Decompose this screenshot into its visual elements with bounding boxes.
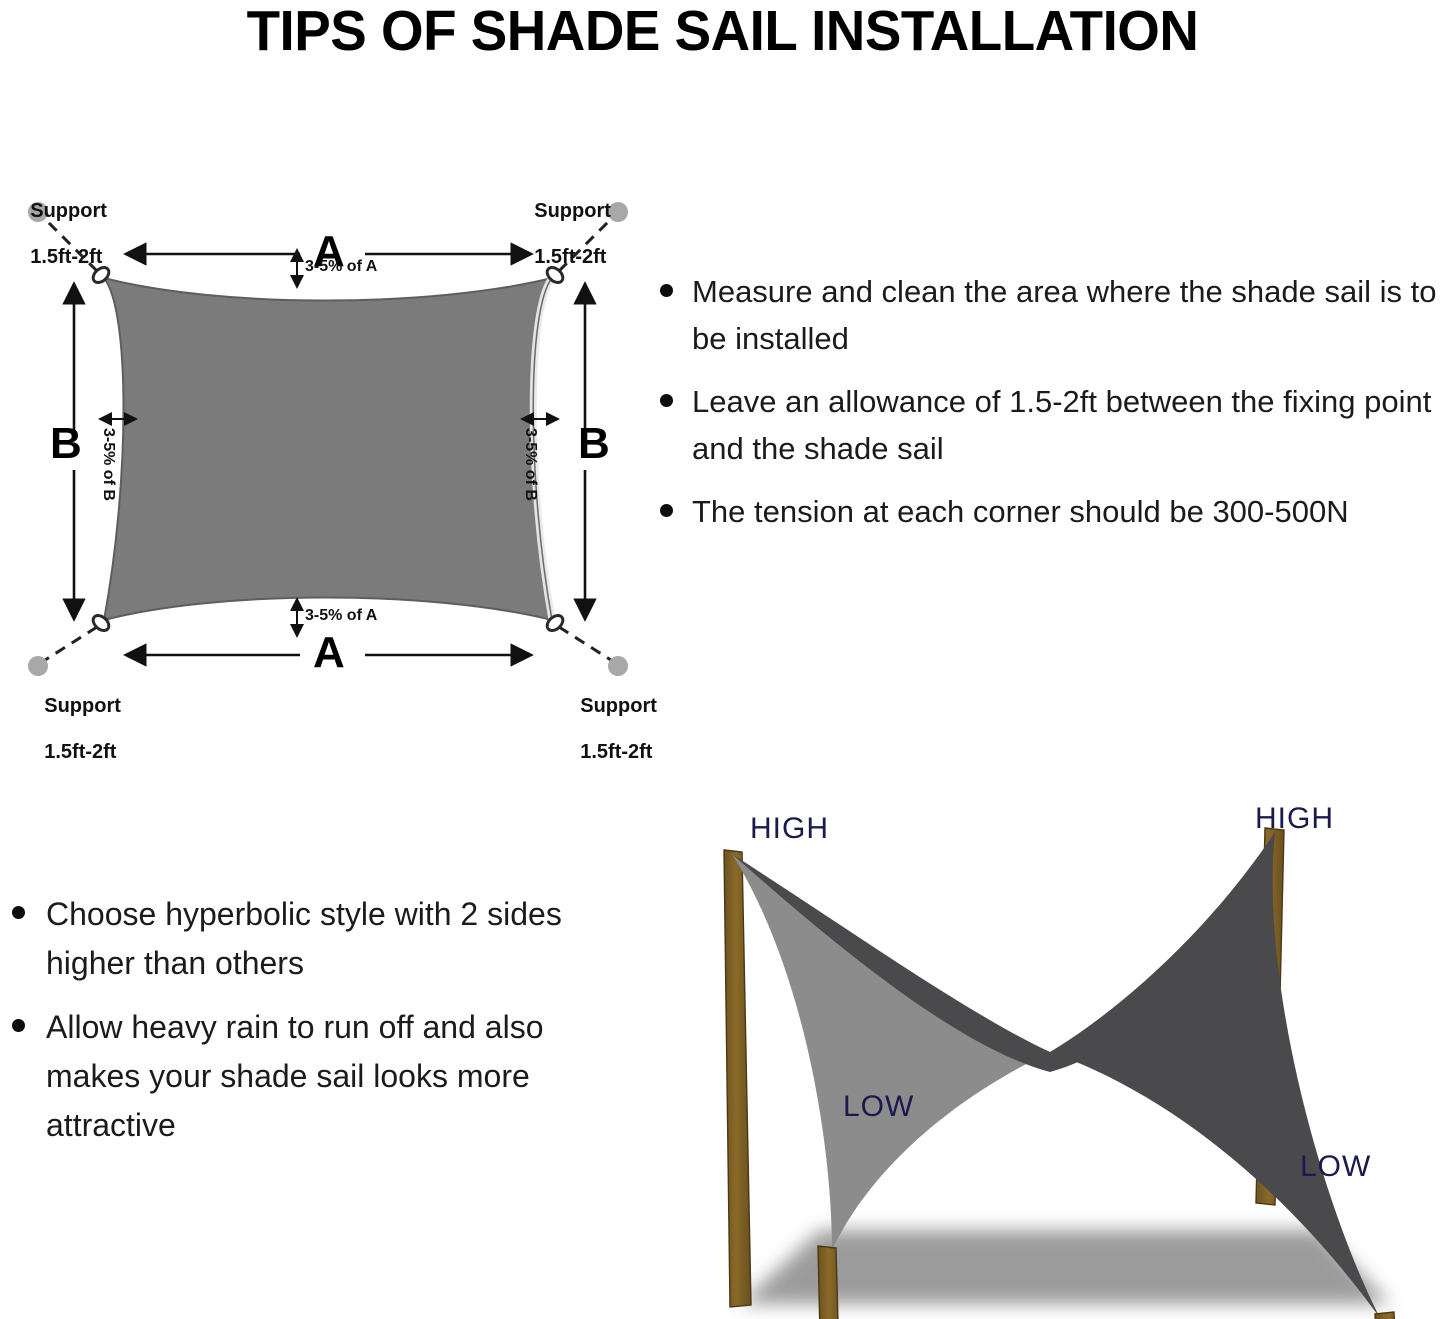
label-low-right: LOW (1300, 1150, 1371, 1184)
label-low-left: LOW (843, 1090, 914, 1124)
support-label-top-left: Support 1.5ft-2ft (8, 177, 107, 292)
label-high-left: HIGH (750, 812, 829, 846)
curve-label-left: 3-5% of B (99, 428, 117, 501)
installation-tips-list: Measure and clean the area where the sha… (648, 268, 1445, 552)
dimension-label-width-bottom: A (313, 631, 345, 675)
support-label-line1: Support (534, 200, 611, 222)
bullet-dot-icon (12, 1019, 25, 1032)
benefit-text: Allow heavy rain to run off and also mak… (46, 1009, 543, 1142)
support-label-line2: 1.5ft-2ft (30, 246, 102, 268)
page-title: TIPS OF SHADE SAIL INSTALLATION (29, 0, 1416, 62)
support-label-bottom-right: Support 1.5ft-2ft (558, 672, 657, 787)
bullet-dot-icon (12, 906, 25, 919)
curve-label-bottom: 3-5% of A (305, 607, 377, 625)
support-label-line1: Support (30, 200, 107, 222)
tips-bullets: Measure and clean the area where the sha… (648, 268, 1445, 536)
rectangular-sail-diagram: Support 1.5ft-2ft Support 1.5ft-2ft Supp… (0, 150, 660, 730)
tip-text: Measure and clean the area where the sha… (692, 274, 1436, 356)
hyperbolic-benefits-list: Choose hyperbolic style with 2 sides hig… (0, 890, 620, 1165)
bullet-dot-icon (660, 504, 673, 517)
list-item: Leave an allowance of 1.5-2ft between th… (648, 378, 1445, 472)
curve-label-top: 3-5% of A (305, 258, 377, 276)
post-high-left (724, 850, 751, 1307)
list-item: Measure and clean the area where the sha… (648, 268, 1445, 362)
list-item: Choose hyperbolic style with 2 sides hig… (0, 890, 620, 987)
benefits-bullets: Choose hyperbolic style with 2 sides hig… (0, 890, 620, 1149)
benefit-text: Choose hyperbolic style with 2 sides hig… (46, 896, 562, 981)
support-label-line2: 1.5ft-2ft (534, 246, 606, 268)
sail-shape (104, 278, 552, 620)
tip-text: Leave an allowance of 1.5-2ft between th… (692, 384, 1431, 466)
support-label-bottom-left: Support 1.5ft-2ft (22, 672, 121, 787)
support-label-line2: 1.5ft-2ft (44, 741, 116, 763)
bullet-dot-icon (660, 394, 673, 407)
anchor-dot-top-right (608, 202, 628, 222)
post-low-right (1375, 1312, 1404, 1319)
tether-bottom-right (559, 627, 614, 662)
list-item: The tension at each corner should be 300… (648, 488, 1445, 535)
support-label-top-right: Support 1.5ft-2ft (512, 177, 611, 292)
tether-bottom-left (42, 627, 97, 662)
support-label-line1: Support (44, 695, 121, 717)
dimension-label-height-left: B (50, 422, 82, 466)
curve-label-right: 3-5% of B (521, 428, 539, 501)
support-label-line2: 1.5ft-2ft (580, 741, 652, 763)
dimension-label-height-right: B (578, 422, 610, 466)
label-high-right: HIGH (1255, 802, 1334, 836)
tip-text: The tension at each corner should be 300… (692, 494, 1349, 529)
hyperbolic-sail-svg (620, 780, 1445, 1319)
bullet-dot-icon (660, 284, 673, 297)
hyperbolic-sail-diagram: HIGH HIGH LOW LOW (620, 780, 1445, 1319)
support-label-line1: Support (580, 695, 657, 717)
list-item: Allow heavy rain to run off and also mak… (0, 1003, 620, 1149)
